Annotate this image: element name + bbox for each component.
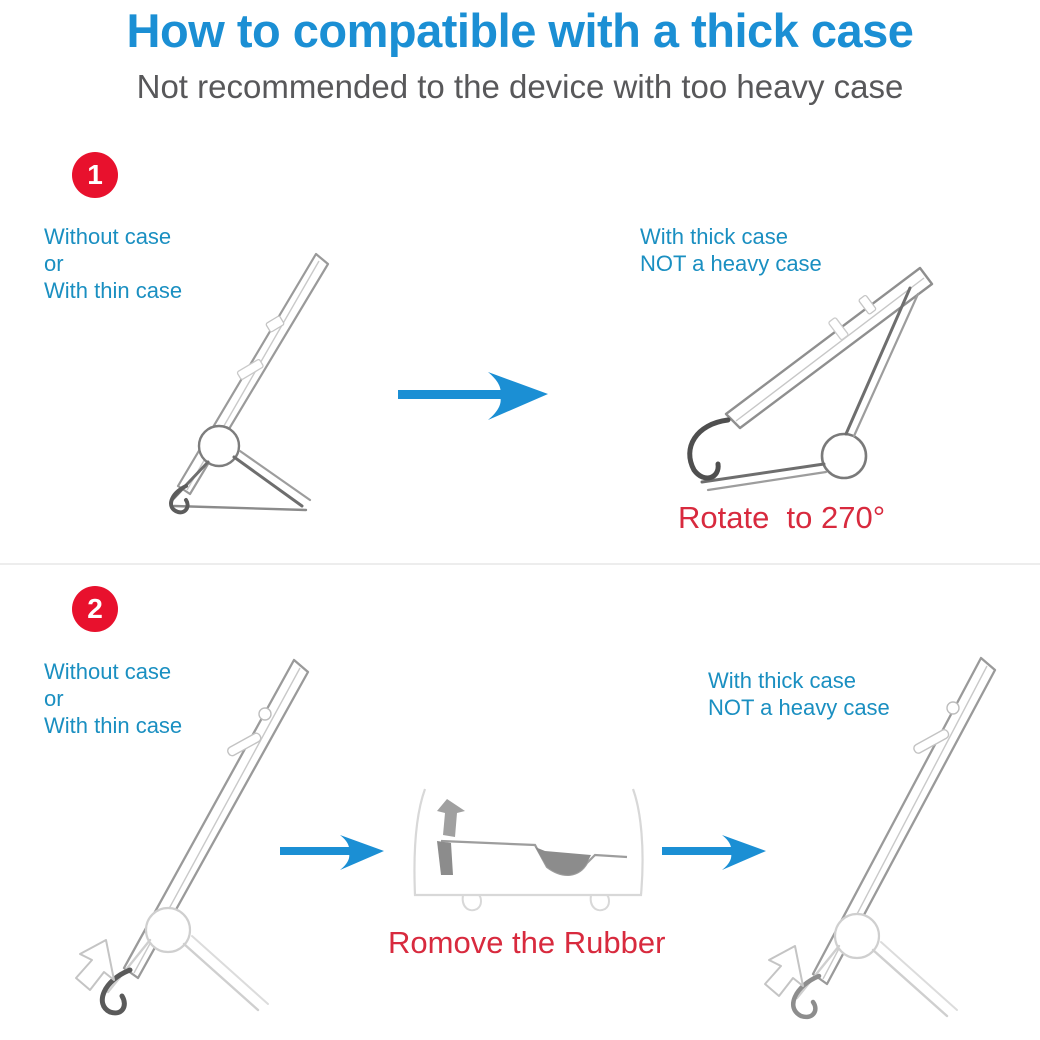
step-badge-2: 2 [72, 586, 118, 632]
right-arrow-icon [278, 832, 388, 874]
stand-rear-leg [873, 950, 947, 1016]
stand-rear-leg-inner [192, 936, 268, 1004]
stand-base-rail [174, 506, 306, 510]
step1-rotate-note: Rotate to 270° [678, 500, 885, 536]
thick-tablet-edge-line [736, 278, 924, 421]
section-divider [0, 563, 1040, 565]
stand-hinge [835, 914, 879, 958]
illustration-stand-rotated-270 [648, 258, 938, 503]
stand-foot-hook [690, 420, 728, 478]
step2-arrow-1 [278, 832, 388, 879]
stand-hinge [199, 426, 239, 466]
step-badge-1: 1 [72, 152, 118, 198]
illustration-tablet-on-stand-rubber-removed [745, 650, 1035, 1025]
callout-arrow-icon [765, 946, 803, 996]
infographic-page: How to compatible with a thick case Not … [0, 0, 1040, 1040]
stand-lower-arm-inner [708, 472, 826, 490]
stand-foot-right [591, 895, 609, 910]
thick-tablet-body [726, 268, 932, 428]
tablet-body [178, 254, 328, 494]
stand-rear-leg-inner [240, 451, 310, 500]
tablet-camera [947, 702, 959, 714]
page-subtitle: Not recommended to the device with too h… [0, 69, 1040, 105]
stand-rear-leg [234, 457, 302, 506]
stand-foot-left [463, 895, 481, 910]
tablet-camera [259, 708, 271, 720]
step1-arrow [396, 368, 556, 431]
stand-rear-leg-inner [881, 942, 957, 1010]
rubber-foot-hook [102, 970, 130, 1013]
page-title: How to compatible with a thick case [0, 6, 1040, 55]
step2-remove-rubber-note: Romove the Rubber [388, 925, 665, 961]
stand-hinge [822, 434, 866, 478]
illustration-stand-base-rubber-removal [395, 775, 660, 920]
stand-hinge [146, 908, 190, 952]
header: How to compatible with a thick case Not … [0, 0, 1040, 106]
illustration-tablet-on-stand-normal [120, 248, 370, 523]
right-arrow-icon [396, 368, 556, 426]
stand-rear-leg [184, 944, 258, 1010]
